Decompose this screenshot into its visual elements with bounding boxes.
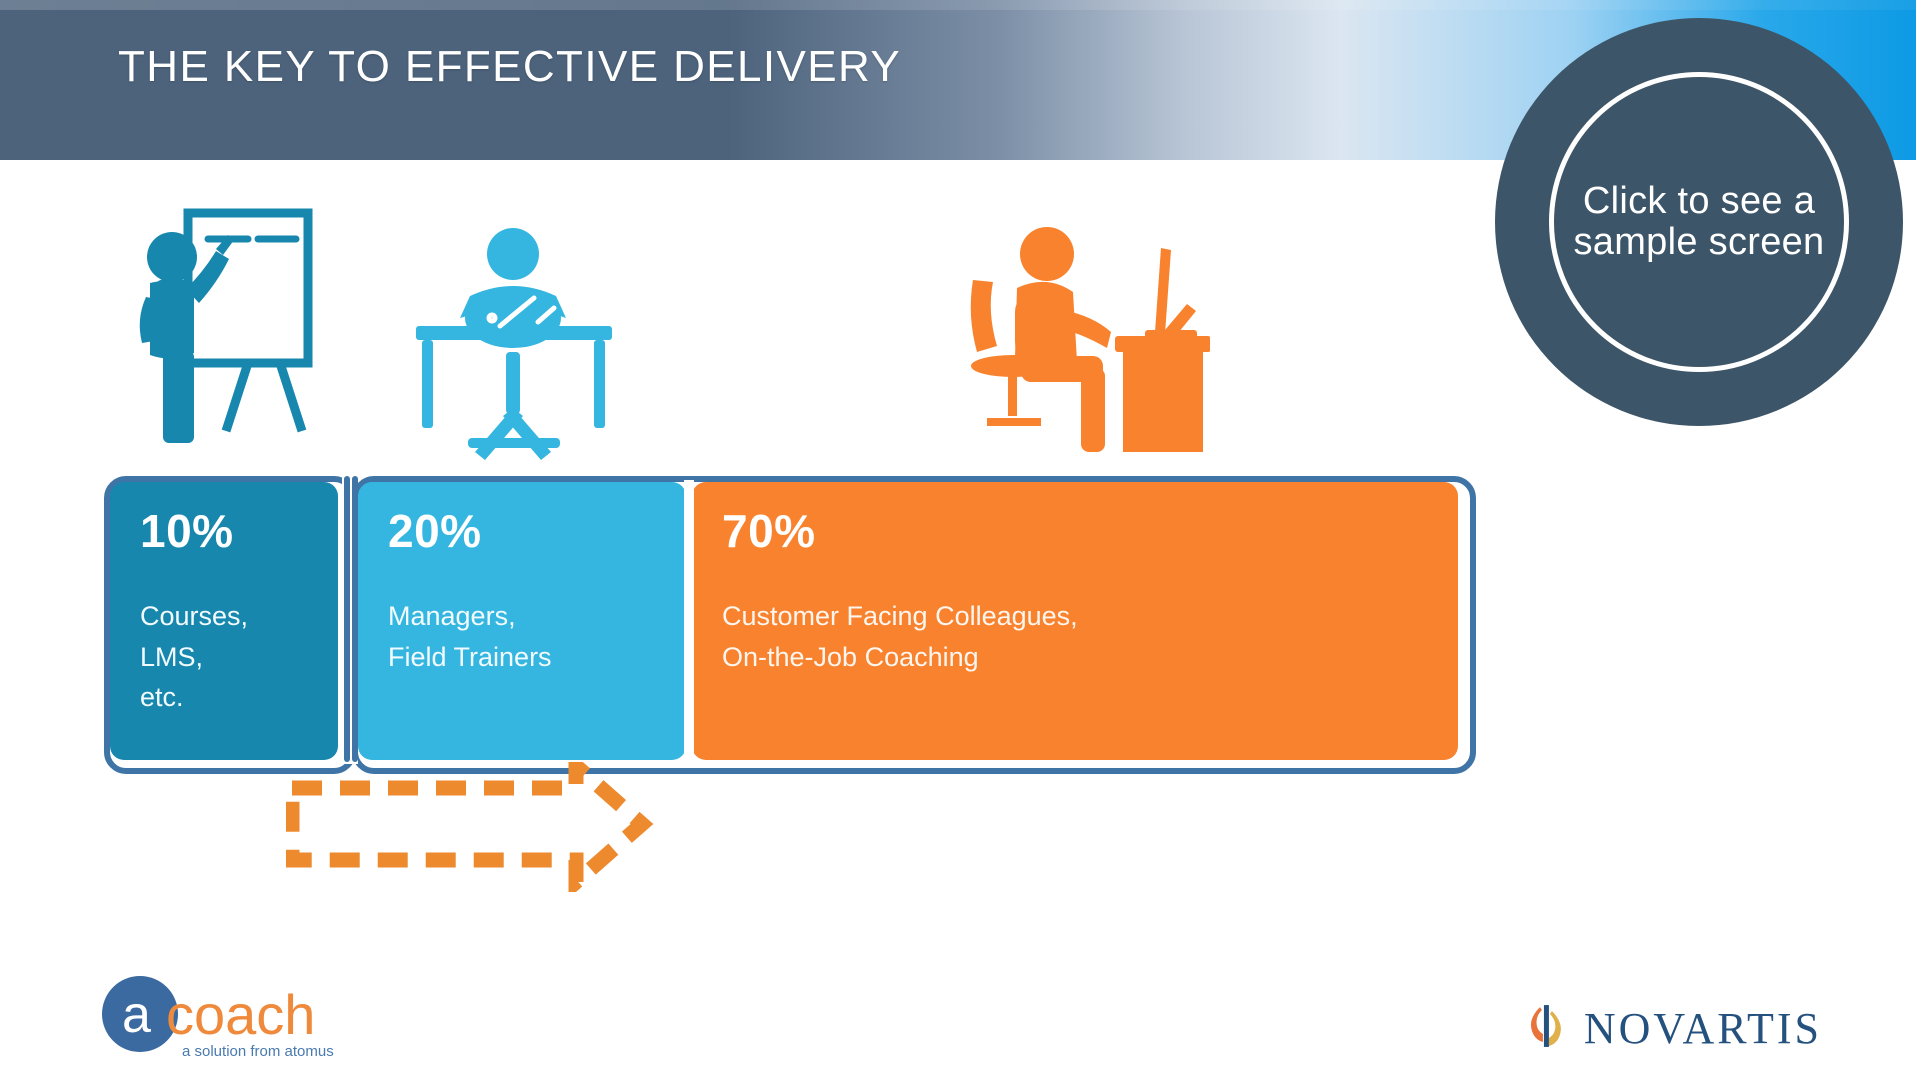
header-sheen [0,0,1916,10]
badge-label-line2: sample screen [1573,222,1824,263]
block-description: Courses, LMS, etc. [140,596,310,718]
click-to-see-sample-badge[interactable]: Click to see a sample screen [1495,18,1903,426]
block-social-learning[interactable]: 20% Managers, Field Trainers [358,482,686,760]
person-at-desk-icon [408,222,623,484]
novartis-logo: NOVARTIS [1522,998,1822,1060]
block-percent: 10% [140,508,310,554]
novartis-wordmark: NOVARTIS [1584,1007,1822,1051]
block-percent: 20% [388,508,658,554]
page-title: THE KEY TO EFFECTIVE DELIVERY [118,42,901,92]
block-description: Managers, Field Trainers [388,596,658,677]
frame-edge-right [352,476,358,762]
badge-label-line1: Click to see a [1573,181,1824,222]
acoach-logo: a coach a solution from atomus [96,968,346,1068]
block-experiential-learning[interactable]: 70% Customer Facing Colleagues, On-the-J… [692,482,1458,760]
svg-text:a: a [122,986,151,1044]
svg-text:coach: coach [166,983,315,1046]
block-description: Customer Facing Colleagues, On-the-Job C… [722,596,1430,677]
block-formal-learning[interactable]: 10% Courses, LMS, etc. [110,482,338,760]
dashed-right-arrow [286,762,826,892]
person-at-computer-icon [965,218,1210,486]
svg-text:a solution from atomus: a solution from atomus [182,1043,334,1060]
block-percent: 70% [722,508,1430,554]
badge-label: Click to see a sample screen [1555,181,1842,262]
slide-canvas: THE KEY TO EFFECTIVE DELIVERY Click to s… [0,0,1916,1076]
gap-divider-2 [684,480,694,762]
novartis-flame-icon [1522,1001,1570,1057]
frame-edge-left [344,476,350,762]
trainer-at-flipchart-icon [130,205,360,495]
